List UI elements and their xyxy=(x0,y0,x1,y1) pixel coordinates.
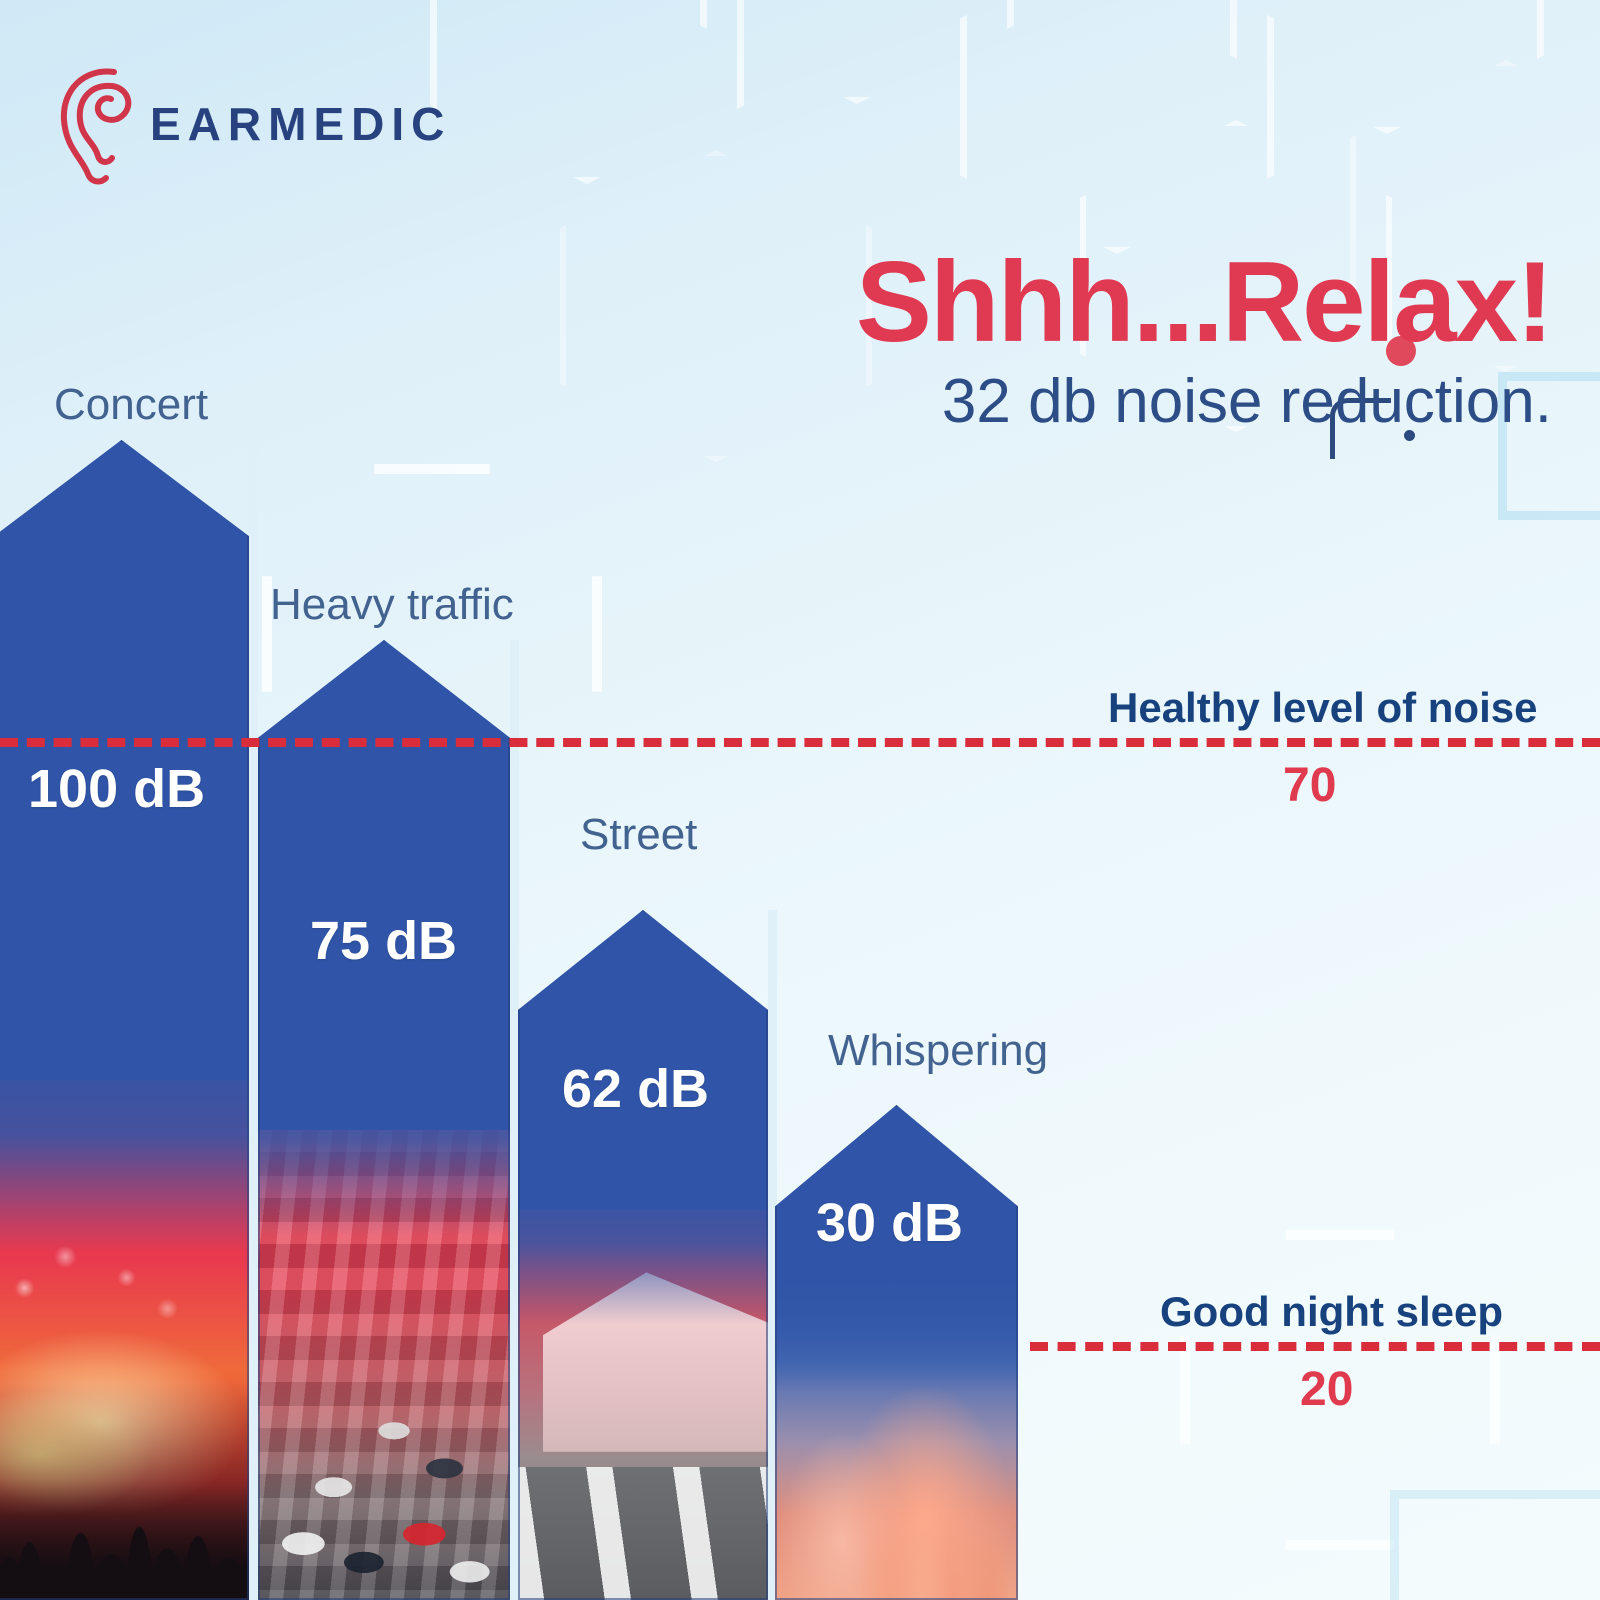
bar-outline xyxy=(775,1105,1018,1600)
bar-concert[interactable] xyxy=(0,440,249,1600)
bar-label-heavy-traffic: Heavy traffic xyxy=(270,580,514,630)
bar-outline xyxy=(0,440,249,1600)
bar-whispering[interactable] xyxy=(775,1105,1018,1600)
hexagon-outline xyxy=(430,0,744,184)
bar-value-concert: 100 dB xyxy=(28,758,205,820)
bar-label-street: Street xyxy=(580,810,697,860)
bar-outline xyxy=(258,640,510,1600)
bar-separator xyxy=(249,440,258,1600)
brand-wordmark: EARMEDIC xyxy=(150,97,451,151)
bar-street[interactable] xyxy=(518,910,768,1600)
threshold-line-sleep xyxy=(1030,1342,1600,1351)
bar-label-concert: Concert xyxy=(54,380,208,430)
ear-icon xyxy=(56,62,140,186)
square-outline xyxy=(1390,1490,1600,1600)
headline-subtitle: 32 db noise reduction. xyxy=(652,366,1552,437)
threshold-title-healthy: Healthy level of noise xyxy=(1108,684,1537,732)
headline-block: Shhh...Relax! 32 db noise reduction. xyxy=(652,246,1552,437)
threshold-value-sleep: 20 xyxy=(1300,1362,1353,1417)
bar-heavy-traffic[interactable] xyxy=(258,640,510,1600)
bar-value-heavy-traffic: 75 dB xyxy=(310,910,457,972)
bar-value-whispering: 30 dB xyxy=(816,1192,963,1254)
bar-label-whispering: Whispering xyxy=(828,1026,1048,1076)
threshold-title-sleep: Good night sleep xyxy=(1160,1288,1503,1336)
hexagon-outline xyxy=(1230,0,1544,134)
hexagon-outline xyxy=(700,0,1014,104)
infographic-canvas: EARMEDIC Shhh...Relax! 32 db noise reduc… xyxy=(0,0,1600,1600)
hexagon-outline xyxy=(960,0,1274,254)
brand-logo[interactable]: EARMEDIC xyxy=(56,62,451,186)
bar-outline xyxy=(518,910,768,1600)
bar-value-street: 62 dB xyxy=(562,1058,709,1120)
threshold-line-healthy xyxy=(0,738,1600,747)
threshold-value-healthy: 70 xyxy=(1283,758,1336,813)
headline-title: Shhh...Relax! xyxy=(652,246,1552,360)
bar-separator xyxy=(510,640,519,1600)
